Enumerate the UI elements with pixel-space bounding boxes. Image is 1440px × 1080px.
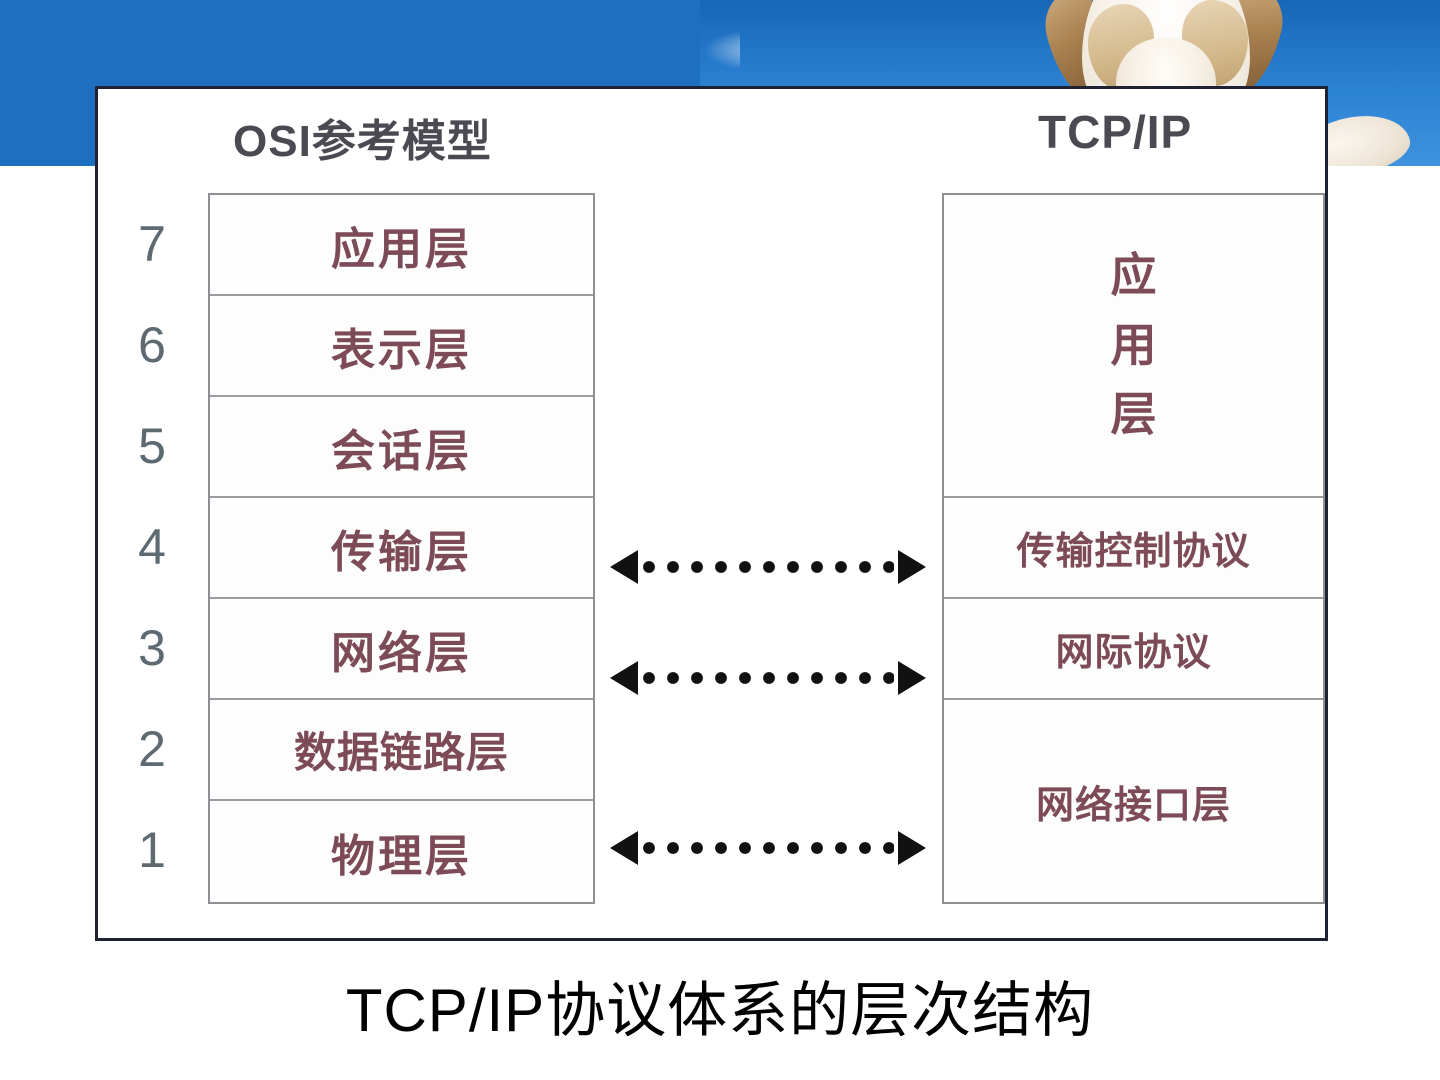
connector-arrow-physical: [610, 831, 926, 865]
osi-layer-row[interactable]: 网络层: [210, 599, 593, 700]
osi-layer-label: 表示层: [331, 314, 472, 378]
arrow-head-left-icon: [610, 550, 638, 584]
tcpip-layer-label: 应 用 层: [1111, 241, 1157, 451]
osi-layer-number: 3: [116, 597, 188, 698]
osi-layer-row[interactable]: 表示层: [210, 296, 593, 397]
osi-layer-row[interactable]: 会话层: [210, 397, 593, 498]
osi-layer-number-column: 7 6 5 4 3 2 1: [116, 193, 188, 900]
connector-arrow-transport: [610, 550, 926, 584]
tcpip-label-char: 层: [1111, 380, 1157, 450]
tcpip-layer-label: 传输控制协议: [1016, 520, 1250, 575]
osi-layer-label: 数据链路层: [294, 719, 509, 780]
osi-layer-row[interactable]: 传输层: [210, 498, 593, 599]
arrow-head-left-icon: [610, 831, 638, 865]
tcpip-layer-stack: 应 用 层 传输控制协议 网际协议 网络接口层: [942, 193, 1325, 904]
tcpip-layer-row-application[interactable]: 应 用 层: [944, 195, 1323, 498]
osi-layer-label: 应用层: [331, 213, 472, 277]
slide-canvas: OSI参考模型 TCP/IP 7 6 5 4 3 2 1 应用层 表示层 会话层…: [0, 0, 1440, 1080]
tcpip-column-heading: TCP/IP: [1038, 105, 1192, 159]
slide-caption: TCP/IP协议体系的层次结构: [0, 962, 1440, 1049]
tcpip-label-char: 用: [1111, 311, 1157, 381]
osi-layer-row[interactable]: 应用层: [210, 195, 593, 296]
osi-layer-row[interactable]: 数据链路层: [210, 700, 593, 801]
arrow-dotted-line: [642, 841, 894, 855]
diagram-panel: OSI参考模型 TCP/IP 7 6 5 4 3 2 1 应用层 表示层 会话层…: [95, 86, 1328, 941]
osi-layer-label: 会话层: [331, 415, 472, 479]
osi-layer-number: 4: [116, 496, 188, 597]
osi-column-heading: OSI参考模型: [233, 105, 492, 169]
arrow-head-right-icon: [898, 661, 926, 695]
arrow-dotted-line: [642, 560, 894, 574]
arrow-head-left-icon: [610, 661, 638, 695]
osi-layer-number: 2: [116, 698, 188, 799]
tcpip-layer-label: 网际协议: [1055, 621, 1211, 676]
arrow-head-right-icon: [898, 550, 926, 584]
osi-layer-number: 1: [116, 799, 188, 900]
tcpip-layer-label: 网络接口层: [1036, 774, 1231, 829]
connector-arrow-network: [610, 661, 926, 695]
osi-layer-row[interactable]: 物理层: [210, 801, 593, 902]
osi-layer-number: 7: [116, 193, 188, 294]
tcpip-layer-row-ip[interactable]: 网际协议: [944, 599, 1323, 700]
tcpip-label-char: 应: [1111, 241, 1157, 311]
osi-layer-label: 传输层: [331, 516, 472, 580]
tcpip-layer-row-tcp[interactable]: 传输控制协议: [944, 498, 1323, 599]
arrow-head-right-icon: [898, 831, 926, 865]
arrow-dotted-line: [642, 671, 894, 685]
osi-layer-label: 网络层: [331, 617, 472, 681]
osi-layer-stack: 应用层 表示层 会话层 传输层 网络层 数据链路层 物理层: [208, 193, 595, 904]
osi-layer-number: 5: [116, 395, 188, 496]
osi-layer-label: 物理层: [331, 820, 472, 884]
tcpip-layer-row-network-interface[interactable]: 网络接口层: [944, 700, 1323, 902]
osi-layer-number: 6: [116, 294, 188, 395]
